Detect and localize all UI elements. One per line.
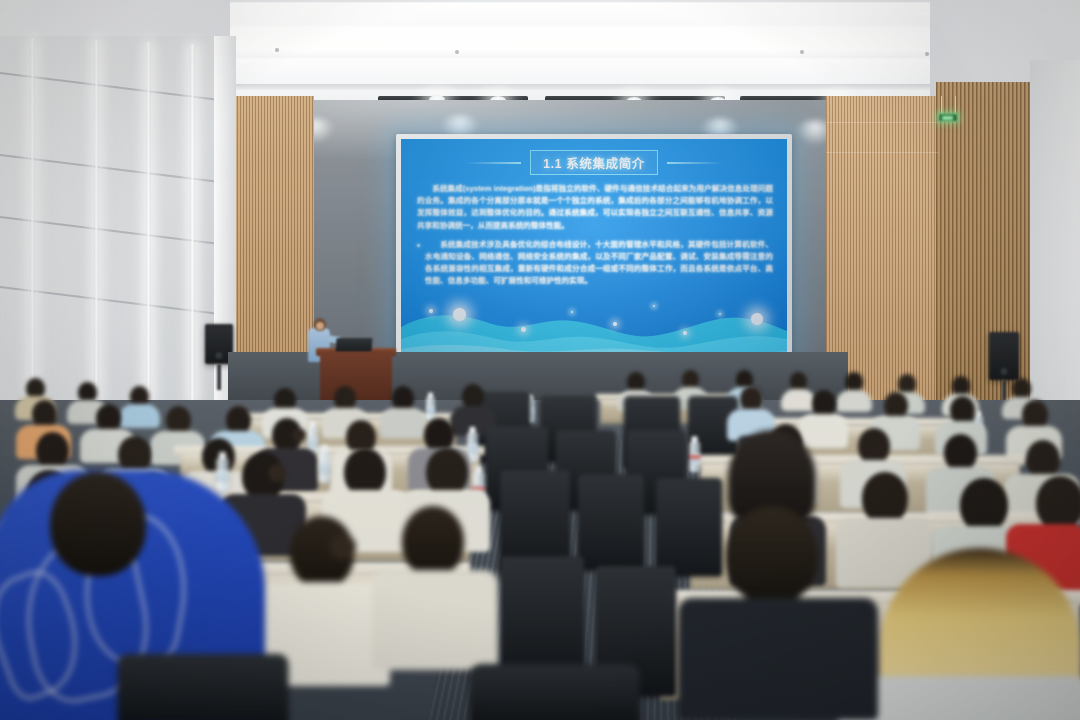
presenter-laptop	[336, 338, 373, 352]
head	[166, 406, 191, 434]
hair-bun	[268, 464, 286, 482]
head	[50, 472, 146, 576]
head	[726, 506, 818, 604]
torso	[119, 404, 160, 428]
head	[1022, 400, 1048, 429]
wood-seam	[826, 152, 938, 153]
head	[862, 472, 908, 524]
conference-room-photo: 1.1 系统集成简介 系统集成(system integration)是指将独立…	[0, 0, 1080, 720]
slide-sparkle	[571, 311, 573, 313]
slide-glow-dot	[751, 313, 763, 325]
torso	[380, 408, 426, 438]
wall-panel-seam	[0, 72, 233, 102]
slide-title-bar: 1.1 系统集成简介	[401, 150, 787, 175]
led-strip-light	[94, 40, 99, 408]
head	[1026, 440, 1060, 478]
head	[944, 434, 977, 471]
head	[118, 436, 151, 473]
exit-sign	[938, 113, 958, 122]
bottle-label	[426, 406, 435, 414]
chair	[118, 654, 288, 720]
head	[960, 478, 1008, 532]
chair	[470, 664, 640, 720]
hair-bun	[292, 428, 306, 442]
torso	[781, 389, 816, 411]
head	[952, 376, 970, 396]
presenter-face	[316, 322, 324, 330]
wall-panel-seam	[0, 154, 233, 184]
water-bottle	[216, 458, 229, 492]
slide-body: 系统集成(system integration)是指将独立的软件、硬件与通信技术…	[417, 183, 773, 295]
bottle-red-stripe	[689, 455, 701, 459]
bottle-label	[307, 438, 318, 447]
ceiling-fitting	[800, 50, 804, 54]
water-bottle	[426, 397, 435, 421]
chair	[656, 478, 722, 576]
led-strip-light	[190, 44, 195, 404]
water-bottle	[318, 451, 330, 483]
torso	[798, 414, 848, 448]
wall-panel-seam	[0, 216, 233, 246]
bottle-label	[216, 471, 229, 482]
slide-glow-dot	[429, 309, 433, 313]
av-speaker-right	[989, 332, 1019, 380]
slide-title: 1.1 系统集成简介	[530, 150, 658, 175]
chair	[500, 470, 570, 570]
head	[845, 372, 863, 392]
exit-sign-wire	[955, 96, 956, 114]
exit-sign-wire	[941, 96, 942, 114]
ceiling-fitting	[455, 50, 459, 54]
head	[32, 400, 57, 428]
slide-title-rule-right	[667, 162, 723, 164]
slide-paragraph-1: 系统集成(system integration)是指将独立的软件、硬件与通信技术…	[417, 183, 773, 232]
ceiling-fitting	[925, 52, 929, 56]
bottle-label	[318, 463, 330, 473]
slide-glow-dot	[521, 327, 526, 332]
presentation-slide: 1.1 系统集成简介 系统集成(system integration)是指将独立…	[401, 139, 787, 359]
torso	[836, 390, 872, 412]
head	[950, 396, 975, 424]
head	[884, 392, 908, 419]
head	[96, 404, 121, 432]
slide-glow-dot	[453, 308, 466, 321]
projection-screen-frame: 1.1 系统集成简介 系统集成(system integration)是指将独立…	[396, 134, 792, 364]
ceiling-fitting	[275, 48, 279, 52]
slide-wave-decoration	[401, 297, 787, 359]
slide-glow-dot	[683, 331, 687, 335]
slide-title-rule-left	[465, 162, 521, 164]
chair	[578, 474, 644, 570]
head	[627, 372, 645, 392]
slide-paragraph-2: 系统集成技术涉及具备优化的综合布线设计，十大面的管理水平和风格，其硬件包括计算机…	[417, 239, 773, 288]
av-speaker-stand-left	[217, 364, 221, 390]
head	[858, 428, 890, 464]
led-strip-light	[146, 42, 151, 406]
torso	[372, 570, 498, 670]
hair-bun	[330, 534, 356, 560]
led-strip-light	[30, 38, 35, 410]
head	[36, 432, 69, 469]
head	[812, 390, 836, 417]
head	[1036, 476, 1080, 530]
slide-sparkle	[719, 313, 721, 315]
water-bottle	[689, 442, 701, 473]
head	[898, 374, 916, 394]
head	[1012, 378, 1031, 399]
torso	[678, 598, 878, 720]
bottle-label	[467, 443, 478, 453]
head	[344, 448, 386, 496]
slide-glow-dot	[613, 322, 617, 326]
head	[424, 418, 454, 452]
wall-panel-seam	[0, 286, 233, 316]
slide-sparkle	[653, 305, 655, 307]
head	[226, 406, 251, 434]
head	[402, 506, 464, 576]
wood-seam	[826, 122, 938, 123]
head	[426, 448, 468, 496]
